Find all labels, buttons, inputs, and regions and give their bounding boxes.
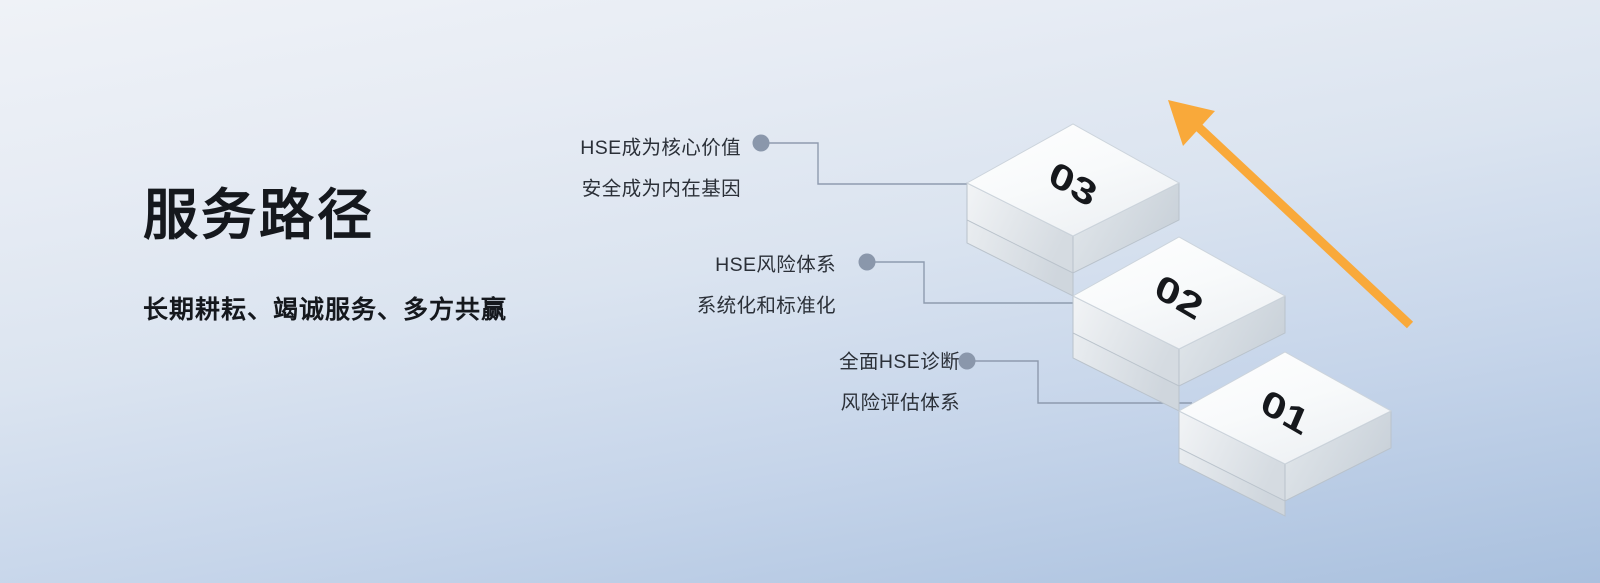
slide-canvas: 服务路径 长期耕耘、竭诚服务、多方共赢 HSE成为核心价值 安全成为内在基因 H… [0,0,1600,583]
connector-dot-02 [859,254,876,271]
staircase-diagram: 03 02 01 [0,0,1600,583]
step-block-01[interactable]: 01 [1179,352,1391,516]
connector-dot-03 [753,135,770,152]
connector-dot-01 [959,353,976,370]
connector-line-03 [753,135,969,185]
